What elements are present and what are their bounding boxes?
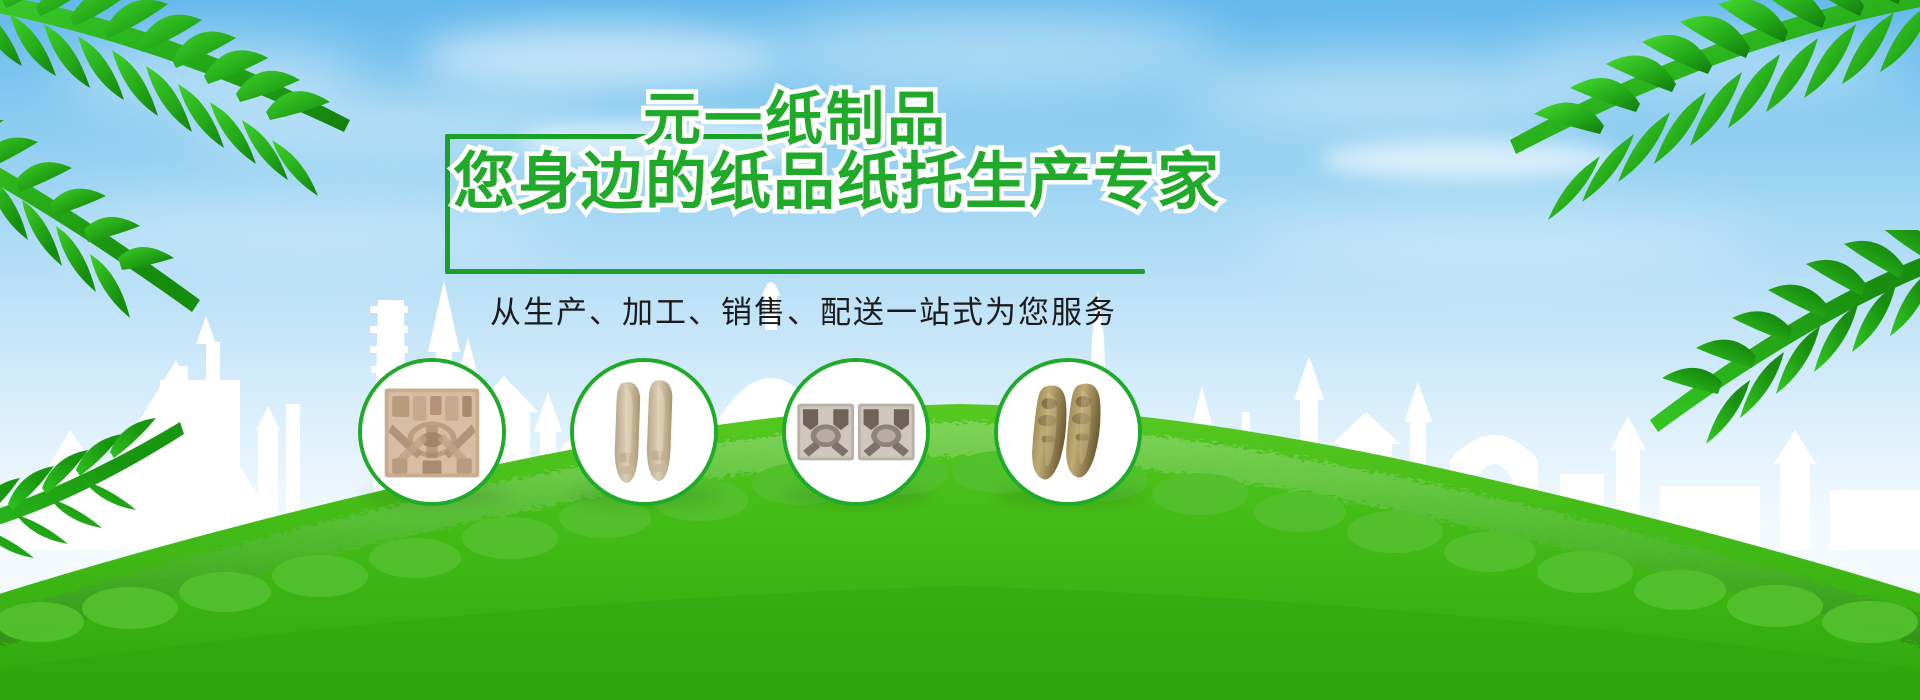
banner-subtitle: 从生产、加工、销售、配送一站式为您服务: [490, 287, 1117, 332]
cloud-shape: [1520, 30, 1900, 94]
paper-pulp-tray-square-icon: [362, 362, 502, 502]
headline-primary: 元一纸制品: [643, 88, 948, 152]
product-circle-3[interactable]: [782, 358, 930, 506]
paper-pulp-tray-double-icon: [786, 362, 926, 502]
promo-banner: 元一纸制品 您身边的纸品纸托生产专家 从生产、加工、销售、配送一站式为您服务: [0, 0, 1920, 700]
cloud-shape: [760, 10, 1220, 90]
paper-pulp-shoe-tree-pair-icon: [574, 362, 714, 502]
product-circle-1[interactable]: [358, 358, 506, 506]
frame-line-left: [445, 134, 450, 274]
green-hill: [0, 300, 1920, 700]
product-circle-4[interactable]: [994, 358, 1142, 506]
headline-secondary: 您身边的纸品纸托生产专家: [453, 148, 1221, 218]
paper-pulp-shoe-form-pair-icon: [998, 362, 1138, 502]
cloud-shape: [420, 25, 780, 89]
headline-block: 元一纸制品 您身边的纸品纸托生产专家: [445, 88, 1145, 276]
frame-line-bottom: [445, 269, 1145, 274]
product-circle-2[interactable]: [570, 358, 718, 506]
